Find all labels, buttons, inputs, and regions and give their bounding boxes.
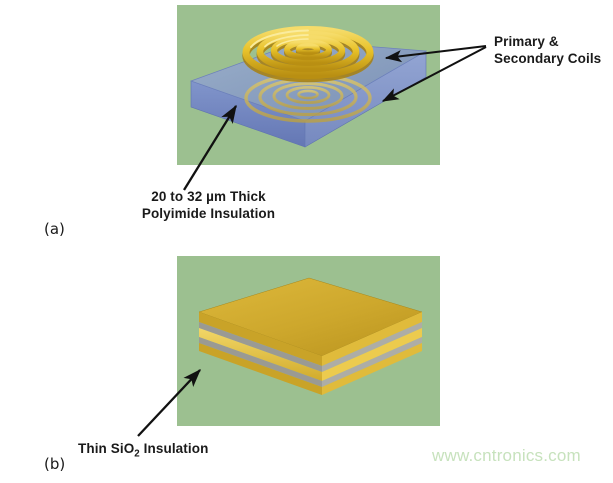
site-watermark: www.cntronics.com: [432, 446, 581, 466]
coils-label-line2: Secondary Coils: [494, 50, 601, 67]
label-sio2-insulation: Thin SiO2 Insulation: [78, 440, 208, 463]
panel-b-svg: [177, 256, 440, 426]
coils-label-line1: Primary &: [494, 33, 601, 50]
sio2-label-suffix: Insulation: [140, 441, 209, 456]
panel-a-illustration: [177, 5, 440, 165]
panel-marker-b: (b): [44, 455, 65, 473]
polyimide-label-line2: Polyimide Insulation: [111, 205, 306, 222]
label-primary-secondary-coils: Primary & Secondary Coils: [494, 33, 601, 67]
panel-a-svg: [177, 5, 440, 165]
polyimide-label-line1: 20 to 32 µm Thick: [111, 188, 306, 205]
figure-page: Primary & Secondary Coils 20 to 32 µm Th…: [0, 0, 613, 483]
panel-marker-a: (a): [44, 220, 65, 238]
label-polyimide-insulation: 20 to 32 µm Thick Polyimide Insulation: [111, 188, 306, 222]
sio2-label-prefix: Thin SiO: [78, 441, 134, 456]
panel-b-illustration: [177, 256, 440, 426]
